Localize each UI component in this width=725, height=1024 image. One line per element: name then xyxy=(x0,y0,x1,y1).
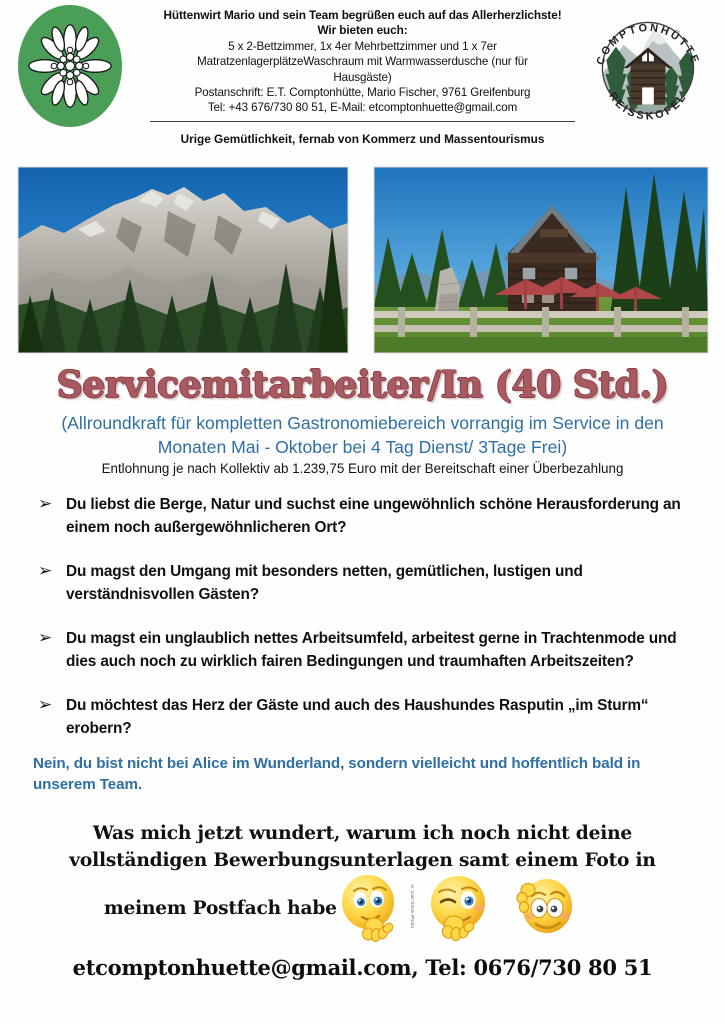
photo-mountain-peak xyxy=(18,167,348,353)
list-item: ➢ Du magst den Umgang mit besonders nett… xyxy=(38,561,688,606)
edelweiss-flower-logo xyxy=(18,5,122,127)
job-title: Servicemitarbeiter/In (40 Std.) xyxy=(0,364,725,406)
job-pay-line: Entlohnung je nach Kollektiv ab 1.239,75… xyxy=(30,461,695,476)
header-divider xyxy=(150,121,575,123)
comptonhuette-cabin-logo: COMPTONHÜTTE REISSKOFEL xyxy=(585,6,711,130)
header-line-greeting: Hüttenwirt Mario und sein Team begrüßen … xyxy=(150,8,575,23)
header-line-contact: Tel: +43 676/730 80 51, E-Mail: etcompto… xyxy=(150,100,575,115)
header-tagline: Urige Gemütlichkeit, fernab von Kommerz … xyxy=(150,132,575,146)
arrow-bullet-icon: ➢ xyxy=(38,560,66,583)
photo-alpine-hut xyxy=(374,167,708,353)
photo-row xyxy=(0,167,725,353)
list-item-text: Du liebst die Berge, Natur und suchst ei… xyxy=(66,494,688,539)
closing-serif-line-3: meinem Postfach habe xyxy=(104,898,337,919)
list-item-text: Du magst den Umgang mit besonders netten… xyxy=(66,561,688,606)
edelweiss-flower-icon xyxy=(28,24,112,108)
list-item: ➢ Du möchtest das Herz der Gäste und auc… xyxy=(38,695,688,740)
list-item: ➢ Du magst ein unglaublich nettes Arbeit… xyxy=(38,628,688,673)
list-item-text: Du möchtest das Herz der Gäste und auch … xyxy=(66,695,688,740)
closing-serif-block: Was mich jetzt wundert, warum ich noch n… xyxy=(0,820,725,874)
contact-line[interactable]: etcomptonhuette@gmail.com, Tel: 0676/730… xyxy=(0,955,725,980)
smiley-row: © Can Stock Photo xyxy=(334,872,584,944)
alpine-hut-photo-illustration xyxy=(374,167,708,353)
header-line-rooms: 5 x 2-Bettzimmer, 1x 4er Mehrbettzimmer … xyxy=(150,39,575,54)
closing-serif-line-2: vollständigen Bewerbungsunterlagen samt … xyxy=(0,847,725,874)
cabin-mountain-icon: COMPTONHÜTTE REISSKOFEL xyxy=(585,6,711,130)
arrow-bullet-icon: ➢ xyxy=(38,493,66,516)
smiley-thinking-icon: © Can Stock Photo xyxy=(334,872,406,944)
closing-blue-text: Nein, du bist nicht bei Alice im Wunderl… xyxy=(33,753,698,795)
arrow-bullet-icon: ➢ xyxy=(38,694,66,717)
list-item-text: Du magst ein unglaublich nettes Arbeitsu… xyxy=(66,628,688,673)
arrow-bullet-icon: ➢ xyxy=(38,627,66,650)
smiley-credit-text: © Can Stock Photo xyxy=(410,884,415,928)
header-line-dorm: MatratzenlagerplätzeWaschraum mit Warmwa… xyxy=(150,54,575,69)
smiley-worried-icon xyxy=(510,872,582,944)
requirements-list: ➢ Du liebst die Berge, Natur und suchst … xyxy=(38,494,688,762)
header: Hüttenwirt Mario und sein Team begrüßen … xyxy=(0,0,725,155)
job-subtitle: (Allroundkraft für kompletten Gastronomi… xyxy=(30,411,695,459)
closing-serif-line-1: Was mich jetzt wundert, warum ich noch n… xyxy=(0,820,725,847)
smiley-winking-thinking-icon xyxy=(422,872,494,944)
header-line-offer: Wir bieten euch: xyxy=(150,23,575,38)
header-line-guests: Hausgäste) xyxy=(150,70,575,85)
mountain-photo-illustration xyxy=(18,167,348,353)
flyer-page: Hüttenwirt Mario und sein Team begrüßen … xyxy=(0,0,725,1024)
list-item: ➢ Du liebst die Berge, Natur und suchst … xyxy=(38,494,688,539)
header-text-block: Hüttenwirt Mario und sein Team begrüßen … xyxy=(150,8,575,146)
header-line-address: Postanschrift: E.T. Comptonhütte, Mario … xyxy=(150,85,575,100)
